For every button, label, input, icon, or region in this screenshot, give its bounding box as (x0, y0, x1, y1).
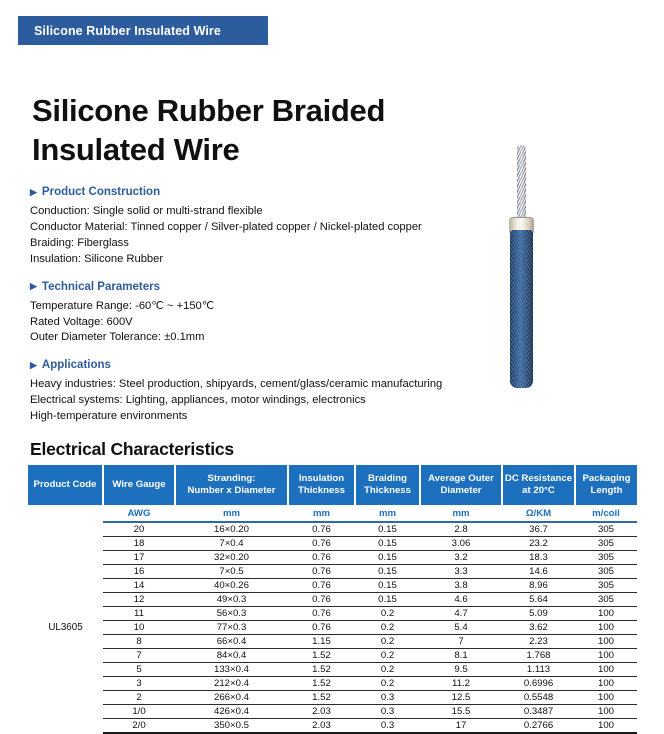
cell-insulation-thickness: 0.76 (288, 579, 355, 593)
unit-product-code (28, 505, 103, 522)
banner-label: Silicone Rubber Insulated Wire (34, 24, 221, 38)
cell-dc-resistance: 0.2766 (502, 719, 575, 734)
table-row: 5133×0.41.520.29.51.113100 (28, 663, 637, 677)
cell-packaging-length: 100 (575, 705, 637, 719)
cell-average-outer-diameter: 9.5 (420, 663, 502, 677)
cell-braiding-thickness: 0.3 (355, 691, 420, 705)
col-header-line: Product Code (34, 479, 97, 490)
table-row: 3212×0.41.520.211.20.6996100 (28, 677, 637, 691)
spec-line: Heavy industries: Steel production, ship… (30, 377, 485, 393)
wire-conductor (517, 145, 526, 223)
page-banner: Silicone Rubber Insulated Wire (18, 16, 268, 45)
col-header-line: Packaging (583, 473, 631, 484)
cell-packaging-length: 305 (575, 579, 637, 593)
col-header-insulation-thickness: InsulationThickness (288, 465, 355, 505)
col-header-wire-gauge: Wire Gauge (103, 465, 175, 505)
electrical-characteristics-title: Electrical Characteristics (30, 439, 234, 460)
cell-braiding-thickness: 0.2 (355, 635, 420, 649)
cell-packaging-length: 305 (575, 565, 637, 579)
table-row: 1077×0.30.760.25.43.62100 (28, 621, 637, 635)
col-header-line: Wire Gauge (112, 479, 165, 490)
cell-wire-gauge: 10 (103, 621, 175, 635)
spec-line: Conduction: Single solid or multi-strand… (30, 204, 485, 220)
section-heading-label: Product Construction (42, 186, 160, 198)
cell-braiding-thickness: 0.15 (355, 565, 420, 579)
spec-line: Insulation: Silicone Rubber (30, 252, 485, 268)
cell-insulation-thickness: 0.76 (288, 607, 355, 621)
cell-dc-resistance: 5.64 (502, 593, 575, 607)
cell-insulation-thickness: 0.76 (288, 565, 355, 579)
cell-dc-resistance: 1.113 (502, 663, 575, 677)
table-row: 1440×0.260.760.153.88.96305 (28, 579, 637, 593)
cell-insulation-thickness: 1.52 (288, 649, 355, 663)
cell-insulation-thickness: 2.03 (288, 719, 355, 734)
table-row: 1732×0.200.760.153.218.3305 (28, 551, 637, 565)
table-row: 167×0.50.760.153.314.6305 (28, 565, 637, 579)
table-header-row: Product Code Wire Gauge Stranding:Number… (28, 465, 637, 505)
section-heading-technical-parameters: ▶ Technical Parameters (30, 281, 485, 293)
spec-line: Temperature Range: -60℃ ~ +150℃ (30, 299, 485, 315)
cell-packaging-length: 100 (575, 677, 637, 691)
cell-braiding-thickness: 0.15 (355, 579, 420, 593)
col-header-line: Diameter (440, 485, 481, 496)
cell-stranding: 66×0.4 (175, 635, 288, 649)
cell-stranding: 426×0.4 (175, 705, 288, 719)
col-header-line: Length (591, 485, 623, 496)
cell-insulation-thickness: 0.76 (288, 551, 355, 565)
cell-packaging-length: 100 (575, 635, 637, 649)
col-header-stranding: Stranding:Number x Diameter (175, 465, 288, 505)
spec-line: Conductor Material: Tinned copper / Silv… (30, 220, 485, 236)
col-header-average-outer-diameter: Average OuterDiameter (420, 465, 502, 505)
cell-average-outer-diameter: 8.1 (420, 649, 502, 663)
cell-packaging-length: 100 (575, 649, 637, 663)
cell-dc-resistance: 36.7 (502, 522, 575, 537)
cell-wire-gauge: 11 (103, 607, 175, 621)
cell-stranding: 350×0.5 (175, 719, 288, 734)
cell-average-outer-diameter: 15.5 (420, 705, 502, 719)
cell-stranding: 40×0.26 (175, 579, 288, 593)
unit-packaging-length: m/coil (575, 505, 637, 522)
cell-insulation-thickness: 0.76 (288, 593, 355, 607)
electrical-characteristics-table-wrap: Product Code Wire Gauge Stranding:Number… (28, 465, 637, 734)
cell-wire-gauge: 3 (103, 677, 175, 691)
cell-stranding: 56×0.3 (175, 607, 288, 621)
spec-line: High-temperature environments (30, 409, 485, 425)
wire-braided-jacket (510, 230, 533, 388)
col-header-line: Thickness (364, 485, 411, 496)
table-row: 866×0.41.150.272.23100 (28, 635, 637, 649)
cell-braiding-thickness: 0.15 (355, 537, 420, 551)
col-header-packaging-length: PackagingLength (575, 465, 637, 505)
cell-packaging-length: 305 (575, 537, 637, 551)
cell-wire-gauge: 7 (103, 649, 175, 663)
unit-wire-gauge: AWG (103, 505, 175, 522)
table-header: Product Code Wire Gauge Stranding:Number… (28, 465, 637, 522)
cell-stranding: 32×0.20 (175, 551, 288, 565)
col-header-line: Number x Diameter (188, 485, 276, 496)
cell-insulation-thickness: 0.76 (288, 621, 355, 635)
cell-wire-gauge: 12 (103, 593, 175, 607)
cell-average-outer-diameter: 3.06 (420, 537, 502, 551)
spec-line: Braiding: Fiberglass (30, 236, 485, 252)
cell-braiding-thickness: 0.2 (355, 621, 420, 635)
cell-stranding: 7×0.4 (175, 537, 288, 551)
cell-dc-resistance: 18.3 (502, 551, 575, 565)
cell-packaging-length: 100 (575, 607, 637, 621)
cell-dc-resistance: 1.768 (502, 649, 575, 663)
col-header-line: Stranding: (208, 473, 256, 484)
cell-packaging-length: 305 (575, 522, 637, 537)
col-header-braiding-thickness: BraidingThickness (355, 465, 420, 505)
cell-average-outer-diameter: 7 (420, 635, 502, 649)
cell-dc-resistance: 23.2 (502, 537, 575, 551)
cell-dc-resistance: 14.6 (502, 565, 575, 579)
triangle-bullet-icon: ▶ (30, 361, 37, 370)
table-row: 2266×0.41.520.312.50.5548100 (28, 691, 637, 705)
col-header-line: Braiding (368, 473, 407, 484)
cell-wire-gauge: 1/0 (103, 705, 175, 719)
col-header-product-code: Product Code (28, 465, 103, 505)
cell-braiding-thickness: 0.15 (355, 593, 420, 607)
spec-line: Rated Voltage: 600V (30, 315, 485, 331)
cell-braiding-thickness: 0.15 (355, 522, 420, 537)
electrical-characteristics-table: Product Code Wire Gauge Stranding:Number… (28, 465, 637, 734)
col-header-dc-resistance: DC Resistanceat 20°C (502, 465, 575, 505)
cell-dc-resistance: 5.09 (502, 607, 575, 621)
cell-dc-resistance: 3.62 (502, 621, 575, 635)
unit-average-outer-diameter: mm (420, 505, 502, 522)
cell-average-outer-diameter: 12.5 (420, 691, 502, 705)
spec-line: Outer Diameter Tolerance: ±0.1mm (30, 330, 485, 346)
cell-average-outer-diameter: 17 (420, 719, 502, 734)
col-header-line: Average Outer (428, 473, 494, 484)
unit-stranding: mm (175, 505, 288, 522)
section-body-applications: Heavy industries: Steel production, ship… (30, 377, 485, 425)
cell-braiding-thickness: 0.2 (355, 607, 420, 621)
table-row: 1249×0.30.760.154.65.64305 (28, 593, 637, 607)
section-heading-label: Technical Parameters (42, 281, 160, 293)
cell-stranding: 266×0.4 (175, 691, 288, 705)
cell-packaging-length: 305 (575, 593, 637, 607)
cell-average-outer-diameter: 4.6 (420, 593, 502, 607)
cell-stranding: 7×0.5 (175, 565, 288, 579)
cell-product-code: UL3605 (28, 522, 103, 733)
cell-stranding: 49×0.3 (175, 593, 288, 607)
cell-stranding: 77×0.3 (175, 621, 288, 635)
cell-wire-gauge: 16 (103, 565, 175, 579)
cell-insulation-thickness: 1.15 (288, 635, 355, 649)
col-header-line: at 20°C (522, 485, 555, 496)
triangle-bullet-icon: ▶ (30, 188, 37, 197)
cell-wire-gauge: 8 (103, 635, 175, 649)
section-heading-product-construction: ▶ Product Construction (30, 186, 485, 198)
cell-braiding-thickness: 0.2 (355, 663, 420, 677)
cell-stranding: 212×0.4 (175, 677, 288, 691)
cell-average-outer-diameter: 2.8 (420, 522, 502, 537)
cell-insulation-thickness: 1.52 (288, 663, 355, 677)
cell-packaging-length: 100 (575, 621, 637, 635)
table-row: 1156×0.30.760.24.75.09100 (28, 607, 637, 621)
cell-average-outer-diameter: 4.7 (420, 607, 502, 621)
table-row: 784×0.41.520.28.11.768100 (28, 649, 637, 663)
cell-insulation-thickness: 1.52 (288, 677, 355, 691)
cell-insulation-thickness: 2.03 (288, 705, 355, 719)
cell-packaging-length: 305 (575, 551, 637, 565)
unit-insulation-thickness: mm (288, 505, 355, 522)
table-unit-row: AWG mm mm mm mm Ω/KM m/coil (28, 505, 637, 522)
cell-insulation-thickness: 1.52 (288, 691, 355, 705)
cell-average-outer-diameter: 3.3 (420, 565, 502, 579)
cell-packaging-length: 100 (575, 663, 637, 677)
cell-packaging-length: 100 (575, 719, 637, 734)
unit-dc-resistance: Ω/KM (502, 505, 575, 522)
cell-insulation-thickness: 0.76 (288, 522, 355, 537)
cell-wire-gauge: 14 (103, 579, 175, 593)
cell-wire-gauge: 17 (103, 551, 175, 565)
table-row: 2/0350×0.52.030.3170.2766100 (28, 719, 637, 734)
cell-dc-resistance: 0.6996 (502, 677, 575, 691)
col-header-line: Thickness (298, 485, 345, 496)
spec-sections: ▶ Product Construction Conduction: Singl… (30, 186, 485, 438)
unit-braiding-thickness: mm (355, 505, 420, 522)
cell-stranding: 84×0.4 (175, 649, 288, 663)
cell-dc-resistance: 0.5548 (502, 691, 575, 705)
cell-wire-gauge: 18 (103, 537, 175, 551)
table-row: UL36052016×0.200.760.152.836.7305 (28, 522, 637, 537)
cell-wire-gauge: 2 (103, 691, 175, 705)
table-row: 187×0.40.760.153.0623.2305 (28, 537, 637, 551)
cell-stranding: 16×0.20 (175, 522, 288, 537)
cell-braiding-thickness: 0.2 (355, 677, 420, 691)
cell-wire-gauge: 20 (103, 522, 175, 537)
cell-average-outer-diameter: 5.4 (420, 621, 502, 635)
cell-braiding-thickness: 0.2 (355, 649, 420, 663)
product-wire-image (495, 145, 555, 390)
section-body-product-construction: Conduction: Single solid or multi-strand… (30, 204, 485, 268)
triangle-bullet-icon: ▶ (30, 282, 37, 291)
cell-braiding-thickness: 0.3 (355, 719, 420, 734)
cell-dc-resistance: 2.23 (502, 635, 575, 649)
section-heading-label: Applications (42, 359, 111, 371)
page-title: Silicone Rubber Braided Insulated Wire (32, 91, 482, 170)
table-row: 1/0426×0.42.030.315.50.3487100 (28, 705, 637, 719)
col-header-line: DC Resistance (505, 473, 572, 484)
section-heading-applications: ▶ Applications (30, 359, 485, 371)
cell-packaging-length: 100 (575, 691, 637, 705)
cell-wire-gauge: 5 (103, 663, 175, 677)
col-header-line: Insulation (299, 473, 344, 484)
cell-braiding-thickness: 0.3 (355, 705, 420, 719)
cell-dc-resistance: 0.3487 (502, 705, 575, 719)
cell-average-outer-diameter: 3.2 (420, 551, 502, 565)
cell-wire-gauge: 2/0 (103, 719, 175, 734)
spec-line: Electrical systems: Lighting, appliances… (30, 393, 485, 409)
cell-stranding: 133×0.4 (175, 663, 288, 677)
cell-average-outer-diameter: 11.2 (420, 677, 502, 691)
cell-average-outer-diameter: 3.8 (420, 579, 502, 593)
cell-dc-resistance: 8.96 (502, 579, 575, 593)
table-body: UL36052016×0.200.760.152.836.7305187×0.4… (28, 522, 637, 733)
cell-insulation-thickness: 0.76 (288, 537, 355, 551)
section-body-technical-parameters: Temperature Range: -60℃ ~ +150℃ Rated Vo… (30, 299, 485, 347)
cell-braiding-thickness: 0.15 (355, 551, 420, 565)
